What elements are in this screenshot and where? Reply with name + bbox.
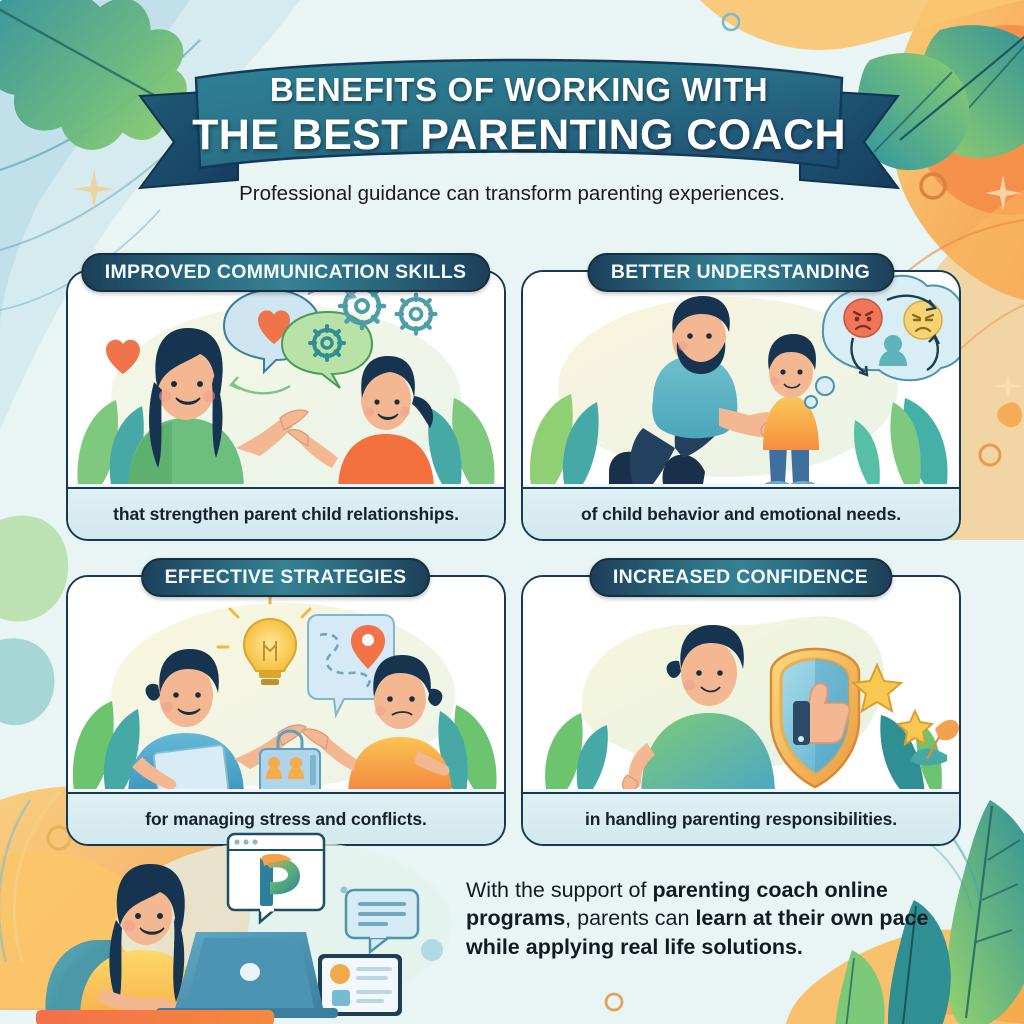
footer-text: With the support of parenting coach onli… — [466, 876, 936, 961]
card-caption: in handling parenting responsibilities. — [523, 792, 959, 844]
benefit-card-increased-confidence: in handling parenting responsibilities. … — [513, 558, 968, 863]
benefits-grid: that strengthen parent child relationshi… — [58, 253, 966, 863]
benefit-card-improved-communication-skills: that strengthen parent child relationshi… — [58, 253, 513, 558]
card-caption: that strengthen parent child relationshi… — [68, 487, 504, 539]
benefit-card-effective-strategies: for managing stress and conflicts. EFFEC… — [58, 558, 513, 863]
card-title-pill: BETTER UNDERSTANDING — [587, 253, 894, 292]
card-title-pill: INCREASED CONFIDENCE — [589, 558, 892, 597]
card-illustration-communication — [68, 272, 504, 491]
card-illustration-strategies — [68, 577, 504, 796]
card-illustration-confidence — [523, 577, 959, 796]
card-caption: of child behavior and emotional needs. — [523, 487, 959, 539]
footer-illustration — [34, 832, 454, 1024]
card-illustration-understanding — [523, 272, 959, 491]
footer-seg-0: With the support of — [466, 878, 652, 902]
footer-seg-2: , parents can — [565, 906, 695, 930]
card-title-pill: EFFECTIVE STRATEGIES — [141, 558, 431, 597]
subtitle: Professional guidance can transform pare… — [0, 182, 1024, 206]
card-title-pill: IMPROVED COMMUNICATION SKILLS — [81, 253, 491, 292]
title-banner: BENEFITS OF WORKING WITH THE BEST PARENT… — [138, 48, 900, 196]
benefit-card-better-understanding: of child behavior and emotional needs. B… — [513, 253, 968, 558]
banner-ribbon-shape — [138, 48, 900, 196]
